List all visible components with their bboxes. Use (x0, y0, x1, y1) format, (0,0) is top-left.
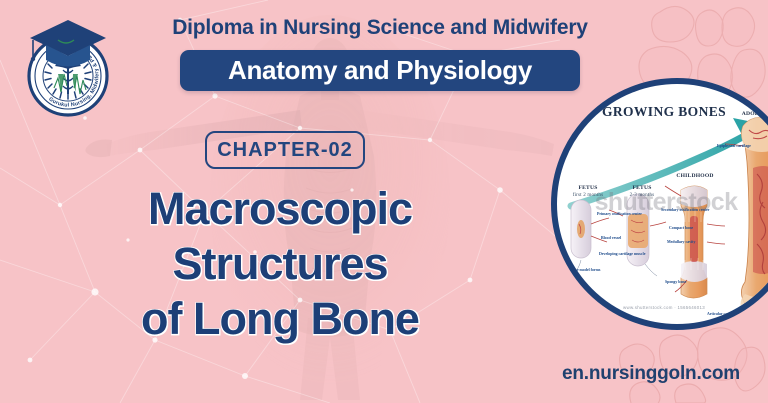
stage-label-childhood: CHILDHOOD (665, 172, 725, 180)
part-label-secondary-ossification: Secondary ossification center (661, 208, 709, 213)
chapter-label: CHAPTER-02 (217, 139, 353, 162)
part-label-epiphyseal-cartilage: Epiphyseal cartilage (717, 144, 751, 149)
part-label-blood-vessel: Blood vessel (601, 236, 621, 241)
part-label-developing-cartilage: Developing cartilage muscle (599, 252, 645, 257)
part-label-cartilage-model: Cartilage model forms (563, 268, 600, 273)
growing-bones-figure: GROWING BONES shutterstock www.shutterst… (551, 78, 768, 330)
website-url[interactable]: en.nursinggoln.com (562, 363, 740, 385)
course-title: Diploma in Nursing Science and Midwifery (140, 16, 620, 40)
stage-label-fetus-2: FETUS 2-3 months (615, 184, 669, 199)
stage-adolescent (725, 118, 768, 330)
subject-label: Anatomy and Physiology (228, 55, 532, 86)
part-label-articular-cartilage: Articular cartilage (707, 312, 738, 317)
gurukul-nursing-logo: Gurukul Nursing, Midwifery & Patient Car… (20, 14, 116, 124)
chapter-badge: CHAPTER-02 (205, 131, 365, 169)
page-title: Macroscopic Structures of Long Bone (40, 182, 520, 347)
page-title-line-1: Macroscopic (40, 182, 520, 237)
logo-icon: Gurukul Nursing, Midwifery & Patient Car… (20, 14, 116, 124)
stage-label-fetus-1: FETUS first 2 months (561, 184, 615, 199)
subject-banner: Anatomy and Physiology (180, 50, 580, 91)
stage-label-adolescent: ADOLESCENT (729, 110, 768, 118)
page-title-line-2: Structures (40, 237, 520, 292)
part-label-primary-ossification: Primary ossification center (597, 212, 642, 217)
part-label-compact-bone: Compact bone (669, 226, 693, 231)
part-label-medullary-cavity: Medullary cavity (667, 240, 695, 245)
figure-credit: www.shutterstock.com · 1565646013 (557, 305, 768, 310)
part-label-spongy-bone: Spongy bone (665, 280, 686, 285)
page-title-line-3: of Long Bone (40, 292, 520, 347)
